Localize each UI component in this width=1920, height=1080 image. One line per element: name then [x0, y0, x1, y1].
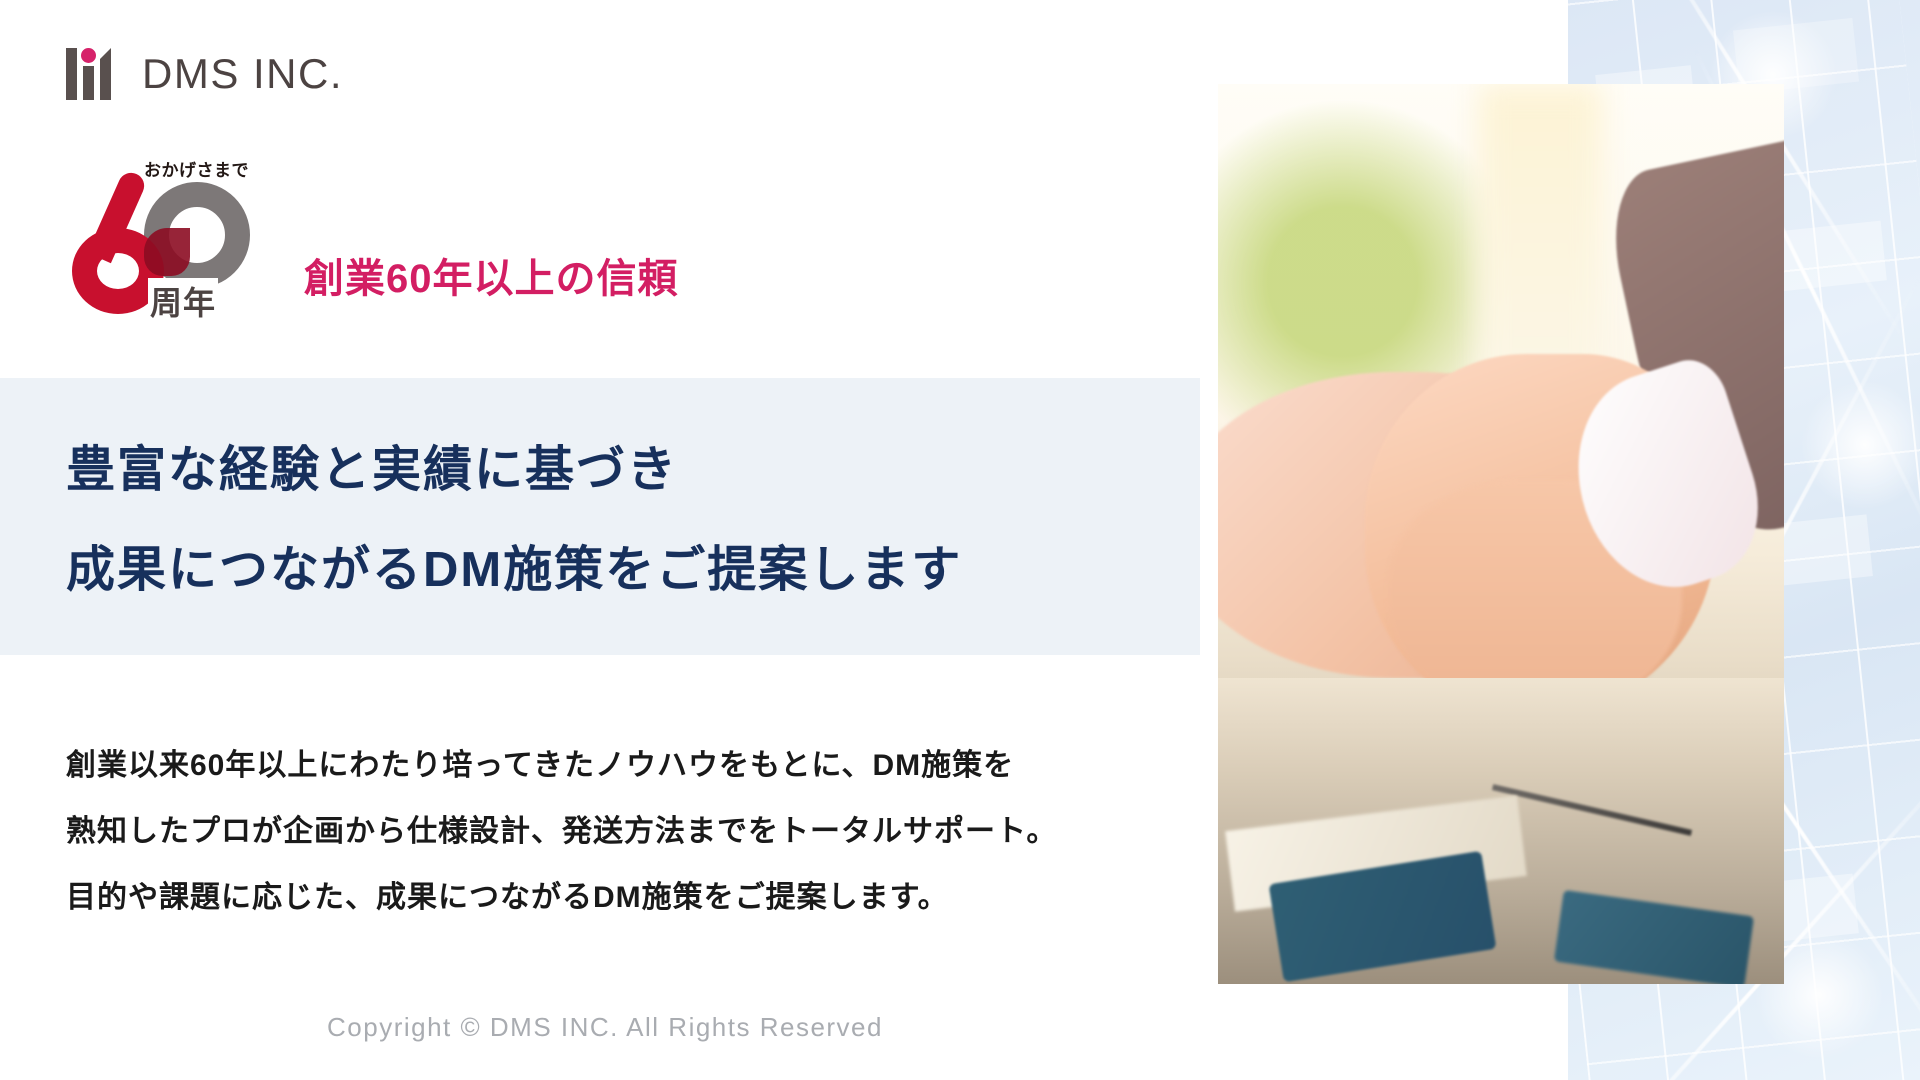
body-paragraph-line: 創業以来60年以上にわたり培ってきたノウハウをもとに、DM施策を — [66, 740, 1156, 784]
copyright-text: Copyright © DMS INC. All Rights Reserved — [0, 1012, 1210, 1043]
brand-logo: DMS INC. — [66, 48, 343, 100]
anniversary-top-label: おかげさまで — [144, 156, 249, 181]
anniversary-overlap-shade — [144, 228, 190, 276]
anniversary-block: おかげさまで 周年 創業60年以上の信頼 — [66, 160, 679, 320]
headline-line-1: 豊富な経験と実績に基づき — [66, 430, 678, 501]
body-paragraph-line: 熟知したプロが企画から仕様設計、発送方法までをトータルサポート。 — [66, 806, 1156, 850]
deco-glow — [1800, 380, 1920, 510]
anniversary-tagline: 創業60年以上の信頼 — [304, 246, 679, 304]
body-copy: 創業以来60年以上にわたり培ってきたノウハウをもとに、DM施策を 熟知したプロが… — [66, 740, 1156, 938]
anniversary-60-logo-icon: おかげさまで 周年 — [66, 160, 256, 320]
brand-name: DMS INC. — [142, 50, 343, 98]
business-handshake-photo — [1218, 84, 1784, 984]
headline-line-2: 成果につながるDM施策をご提案します — [66, 530, 962, 601]
body-paragraph-line: 目的や課題に応じた、成果につながるDM施策をご提案します。 — [66, 872, 1156, 916]
slide-canvas: DMS INC. おかげさまで 周年 創業60年以上の信頼 豊富な経験と実績に基… — [0, 0, 1920, 1080]
dms-bars-logo-icon — [66, 48, 120, 100]
anniversary-suffix: 周年 — [148, 278, 218, 324]
headline-band: 豊富な経験と実績に基づき 成果につながるDM施策をご提案します — [0, 378, 1200, 655]
